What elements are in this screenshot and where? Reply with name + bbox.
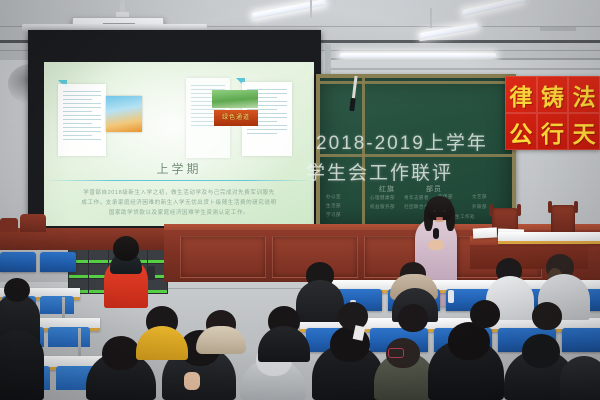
speaker-eye-left bbox=[433, 210, 436, 212]
photo-sunrise-poster bbox=[106, 96, 142, 132]
paper-stack-left bbox=[473, 227, 497, 238]
blackboard-note-left-2: 生活部 bbox=[326, 203, 341, 209]
banner-cell-5: 行 bbox=[537, 113, 569, 150]
slide-body-line-3: 国家助学贷款以及家庭经济因难学生资测认定工作。 bbox=[66, 208, 292, 216]
raised-hand bbox=[184, 372, 200, 390]
banner-cell-3: 法 bbox=[568, 76, 600, 113]
seat-right-10 bbox=[562, 328, 600, 352]
blackboard-line-1: 2018-2019上学年 bbox=[316, 128, 488, 155]
banner-char-4: 公 bbox=[509, 115, 532, 149]
red-slogan-banner: 律 铸 法 公 行 天 bbox=[505, 76, 600, 150]
wall-trim bbox=[330, 68, 600, 70]
speaker-hands bbox=[428, 240, 444, 250]
chair-right-post-2 bbox=[574, 201, 578, 213]
blackboard: 2018-2019上学年 学生会工作联评 红旗 部员 办公室 生活部 学习部 心… bbox=[316, 74, 516, 230]
student-mid-head-6 bbox=[470, 300, 500, 328]
sign-caption: 绿色通道 bbox=[222, 114, 250, 123]
seat-back-row bbox=[0, 252, 36, 272]
water-bottle-2 bbox=[448, 290, 454, 303]
student-fg-1-head bbox=[102, 336, 140, 370]
blackboard-subheader-2: 部员 bbox=[426, 184, 442, 194]
banner-cell-4: 公 bbox=[505, 113, 537, 150]
seat-left-4 bbox=[48, 327, 90, 347]
banner-char-1: 律 bbox=[509, 78, 532, 112]
banner-char-5: 行 bbox=[541, 115, 564, 149]
stage-panel-1 bbox=[180, 236, 266, 278]
desk-row-far-right bbox=[498, 232, 600, 244]
student-fg-7-head bbox=[522, 334, 560, 368]
blackboard-note-mid-1: 心理健康部 bbox=[370, 195, 395, 201]
speaker-mouth bbox=[436, 217, 443, 220]
left-chair-back-2 bbox=[20, 214, 46, 232]
text-card-left bbox=[58, 84, 106, 156]
handheld-microphone bbox=[433, 228, 439, 239]
banner-cell-1: 律 bbox=[505, 76, 537, 113]
light-hanger-1 bbox=[310, 0, 312, 18]
student-mid-head-5 bbox=[398, 304, 428, 332]
photo-green-campus bbox=[212, 90, 258, 108]
blackboard-divider-top bbox=[320, 81, 512, 84]
blackboard-note-mid-3: 青年志愿者 bbox=[404, 195, 429, 201]
blackboard-note-right-3: 文艺部 bbox=[472, 194, 487, 200]
student-red-vest-head bbox=[113, 236, 139, 261]
chair-left-post-1 bbox=[489, 204, 493, 216]
student-body-1 bbox=[296, 280, 344, 322]
student-mid-head-4 bbox=[338, 302, 368, 330]
water-bottle-1 bbox=[148, 266, 155, 280]
student-mid-head-7 bbox=[532, 302, 562, 330]
seat-left-2 bbox=[40, 296, 74, 314]
left-chair-back bbox=[0, 218, 18, 232]
blackboard-note-left-3: 学习部 bbox=[326, 212, 341, 218]
student-fg-8 bbox=[560, 356, 600, 400]
student-foreground-left bbox=[0, 330, 44, 400]
seat-back-row bbox=[40, 252, 76, 272]
fluorescent-tube-4 bbox=[340, 53, 496, 58]
banner-char-6: 天 bbox=[573, 115, 596, 149]
ceiling-conduit bbox=[540, 27, 576, 31]
light-hanger-2 bbox=[430, 8, 432, 28]
blackboard-subheader-1: 红旗 bbox=[379, 184, 395, 194]
banner-char-2: 铸 bbox=[541, 78, 564, 112]
banner-cell-2: 铸 bbox=[537, 76, 569, 113]
blackboard-line-2: 学生会工作联评 bbox=[306, 158, 453, 185]
student-glasses bbox=[388, 348, 404, 358]
slide-title: 上学期 bbox=[99, 160, 259, 177]
student-left-dark-head bbox=[4, 278, 30, 302]
pocket-slot bbox=[89, 249, 108, 263]
slide-body-line-2: 成工作。支承家庭经济困难的新生入学无忧出货卜级随生活费的研究说明 bbox=[66, 198, 292, 206]
projected-slide: 绿色通道 上学期 学曾部自2018级新生入学之初，做生活动学及与己完成对先费军训… bbox=[44, 62, 314, 226]
chair-left-post-2 bbox=[517, 204, 521, 216]
photo-orange-sign: 绿色通道 bbox=[214, 110, 258, 126]
slide-divider-rule bbox=[44, 180, 314, 181]
slide-body-line-1: 学曾部自2018级新生入学之初，做生活动学及与己完成对先费军训服先 bbox=[66, 188, 292, 196]
wooden-chair-right bbox=[551, 205, 575, 235]
blackboard-note-left-1: 办公室 bbox=[326, 194, 341, 200]
blackboard-note-right-4: 外联部 bbox=[472, 204, 487, 210]
classroom-photo: EPSON bbox=[0, 0, 600, 400]
blackboard-note-mid-2: 权益服务部 bbox=[370, 204, 395, 210]
chair-right-post-1 bbox=[548, 201, 552, 213]
speaker-eye-right bbox=[443, 210, 446, 212]
banner-char-3: 法 bbox=[573, 78, 596, 112]
banner-cell-6: 天 bbox=[568, 113, 600, 150]
